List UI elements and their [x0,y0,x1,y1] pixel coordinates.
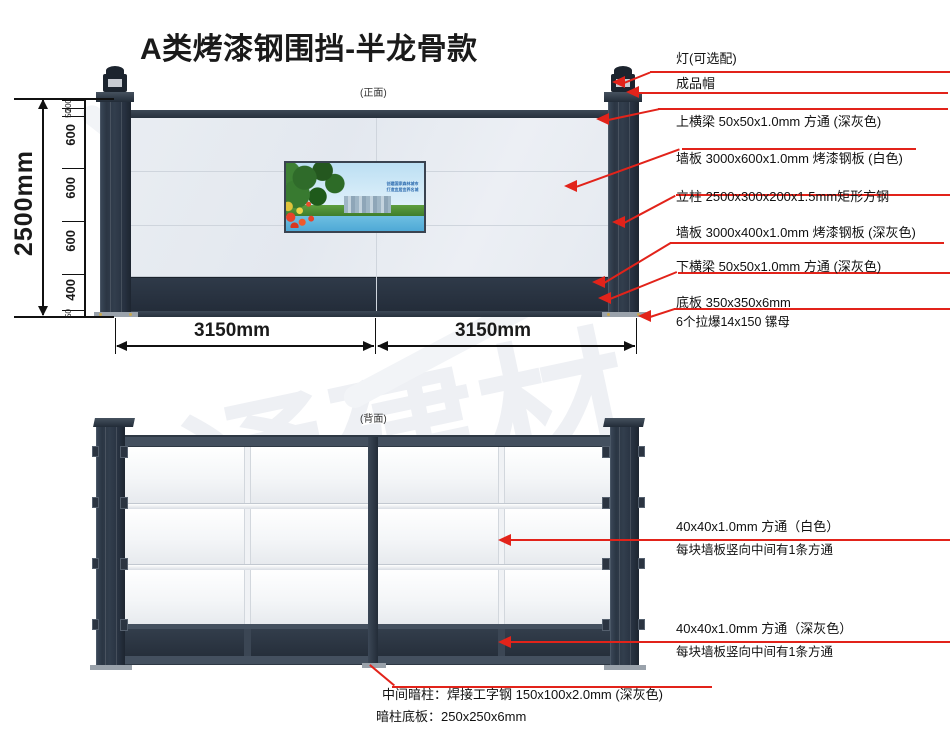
back-bracket [120,558,128,570]
note-dark-panel: 墙板 3000x400x1.0mm 烤漆钢板 (深灰色) [676,224,916,243]
note-dark-tube-detail: 每块墙板竖向中间有1条方通 [676,643,833,661]
back-bracket [602,497,610,509]
post-seam [630,425,631,665]
back-bracket [638,619,645,630]
back-middle-hidden-column [368,437,378,665]
anchor-bolt [99,313,102,316]
back-white-rib [498,447,505,503]
note-hidden-column: 中间暗柱：焊接工字钢 150x100x2.0mm (深灰色) [382,686,663,705]
width-dim-line-right [378,345,635,347]
note-white-tube: 40x40x1.0mm 方通（白色） [676,518,839,537]
poster-flowers [284,192,347,229]
back-bracket [120,497,128,509]
ladder-label-600-a: 600 [63,124,78,146]
front-left-lamp-glass [108,79,122,87]
total-height-label: 2500mm [10,150,39,256]
back-left-baseplate [90,665,132,670]
note-white-panel: 墙板 3000x600x1.0mm 烤漆钢板 (白色) [676,150,903,169]
note-dark-tube: 40x40x1.0mm 方通（深灰色） [676,620,852,639]
back-dark-rib [244,628,251,656]
span-right-label: 3150mm [455,320,531,342]
width-arrow-left [377,341,388,351]
width-arrow-right [624,341,635,351]
post-seam [629,100,630,312]
total-height-dim-line [42,100,44,315]
back-right-post [610,425,639,665]
callout-leader [650,308,675,317]
back-bracket [92,558,99,569]
width-arrow-left [116,341,127,351]
back-bracket [92,446,99,457]
ladder-label-400: 400 [63,279,78,301]
back-white-rib [244,569,251,625]
note-lamp: 灯(可选配) [676,50,737,69]
note-baseplate: 底板 350x350x6mm [676,294,791,313]
front-top-rail [118,110,634,118]
page-title: A类烤漆钢围挡-半龙骨款 [140,24,478,68]
back-white-rib [244,508,251,564]
front-right-lamp-top [614,66,632,75]
front-left-lamp-top [106,66,124,75]
anchor-bolt [129,313,132,316]
poster-text-line1: 创建国家森林城市 [386,181,418,187]
post-seam [116,425,117,665]
back-bracket [638,558,645,569]
front-bottom-rail [118,311,634,317]
ladder-label-50: 50 [64,109,73,118]
front-left-post [100,100,131,312]
poster-text: 创建国家森林城市 打造宜居宜养名城 [386,181,418,193]
callout-leader [658,108,948,110]
back-bracket [92,497,99,508]
ladder-tick [62,274,86,275]
ladder-label-50-bottom: 50 [64,309,73,318]
dim-arrow-down [38,306,48,316]
back-white-rib [498,569,505,625]
back-bracket [120,619,128,631]
post-seam [105,425,106,665]
note-cap: 成品帽 [676,75,715,94]
front-view-caption: (正面) [360,84,387,99]
post-seam [121,100,122,312]
note-post: 立柱 2500x300x200x1.5mm矩形方钢 [676,188,889,207]
ladder-tick [62,168,86,169]
note-white-tube-detail: 每块墙板竖向中间有1条方通 [676,541,833,559]
front-poster: 创建国家森林城市 打造宜居宜养名城 [284,161,426,233]
callout-leader [650,71,950,73]
back-bracket [638,446,645,457]
post-seam [618,100,619,312]
note-top-beam: 上横梁 50x50x1.0mm 方通 (深灰色) [676,113,881,132]
span-left-label: 3150mm [194,320,270,342]
back-bracket [602,446,610,458]
ladder-label-600-c: 600 [63,230,78,252]
back-right-baseplate [604,665,646,670]
ladder-tick [62,221,86,222]
width-ext-mid [375,318,376,354]
back-left-post-cap [93,418,135,427]
dim-arrow-up [38,99,48,109]
post-seam [110,100,111,312]
note-bottom-beam: 下横梁 50x50x1.0mm 方通 (深灰色) [676,258,881,277]
back-right-post-cap [603,418,645,427]
post-seam [619,425,620,665]
front-left-post-cap [96,92,134,102]
back-bracket [92,619,99,630]
note-anchor-bolts: 6个拉爆14x150 镙母 [676,313,790,331]
ladder-rail [84,100,86,316]
ladder-label-600-b: 600 [63,177,78,199]
back-view-caption: (背面) [360,410,387,425]
back-bracket [120,446,128,458]
poster-text-line2: 打造宜居宜养名城 [386,187,418,193]
back-bracket [602,558,610,570]
width-dim-line-left [117,345,374,347]
back-bracket [638,497,645,508]
front-right-post [608,100,639,312]
note-hidden-column-baseplate: 暗柱底板：250x250x6mm [376,708,526,727]
back-white-rib [244,447,251,503]
width-arrow-right [363,341,374,351]
anchor-bolt [607,313,610,316]
width-ext-right [636,318,637,354]
back-bracket [602,619,610,631]
